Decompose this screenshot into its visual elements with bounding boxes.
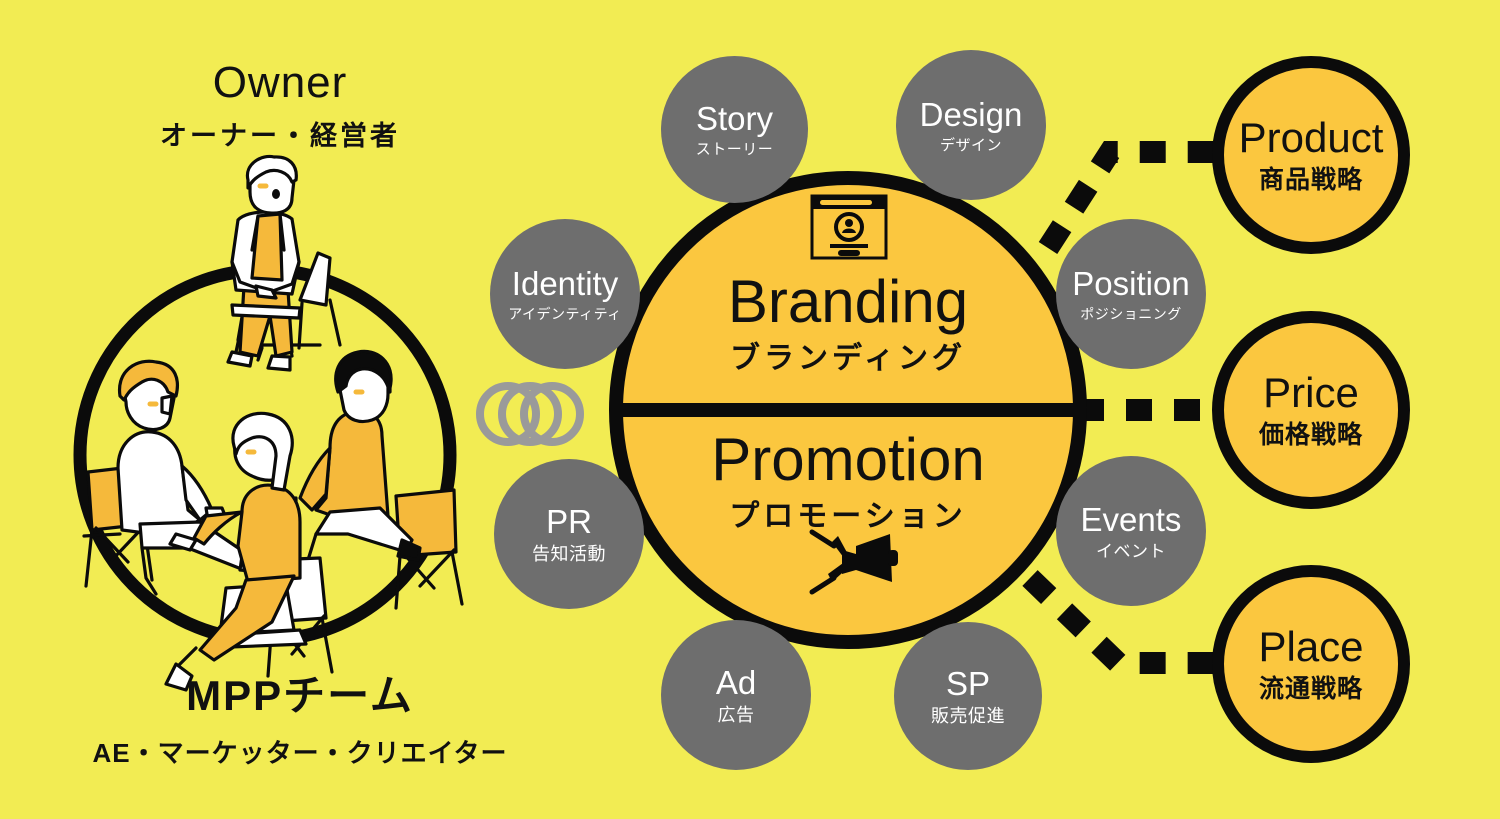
satellite-ad-en: Ad	[716, 666, 756, 699]
satellite-ad-jp: 広告	[718, 706, 755, 724]
satellite-identity-en: Identity	[512, 267, 618, 300]
satellite-story-jp: ストーリー	[696, 142, 774, 157]
hub-promotion-jp: プロモーション	[638, 502, 1058, 532]
diagram-canvas: Owner オーナー・経営者 MPPチーム AE・マーケッター・クリエイター B…	[0, 0, 1500, 819]
satellite-sp-jp: 販売促進	[931, 707, 1005, 725]
satellite-sp[interactable]: SP 販売促進	[894, 622, 1042, 770]
p4-product-en: Product	[1239, 117, 1384, 159]
satellite-position-en: Position	[1072, 267, 1189, 300]
satellite-pr[interactable]: PR 告知活動	[494, 459, 644, 609]
hub-promotion-en: Promotion	[638, 430, 1058, 490]
p4-place-en: Place	[1258, 626, 1363, 668]
satellite-events-en: Events	[1081, 503, 1182, 536]
satellite-position-jp: ポジショニング	[1080, 307, 1182, 321]
satellite-ad[interactable]: Ad 広告	[661, 620, 811, 770]
satellite-position[interactable]: Position ポジショニング	[1056, 219, 1206, 369]
satellite-events-jp: イベント	[1096, 543, 1166, 560]
mpp-title-en: MPPチーム	[0, 662, 600, 723]
mpp-title-jp: AE・マーケッター・クリエイター	[0, 733, 600, 770]
satellite-sp-en: SP	[946, 667, 990, 700]
mpp-team-heading: MPPチーム AE・マーケッター・クリエイター	[0, 662, 600, 770]
hub-branding-jp: ブランディング	[638, 344, 1058, 374]
satellite-identity[interactable]: Identity アイデンティティ	[490, 219, 640, 369]
owner-heading: Owner オーナー・経営者	[60, 58, 500, 153]
owner-title-en: Owner	[60, 58, 500, 108]
p4-price[interactable]: Price 価格戦略	[1212, 311, 1410, 509]
p4-place-jp: 流通戦略	[1259, 677, 1363, 702]
satellite-design-en: Design	[920, 98, 1023, 131]
browser-profile-icon	[812, 196, 886, 258]
satellite-pr-jp: 告知活動	[532, 545, 606, 563]
p4-price-en: Price	[1263, 372, 1359, 414]
hub-branding-label: Branding ブランディング	[638, 272, 1058, 374]
satellite-story[interactable]: Story ストーリー	[661, 56, 808, 203]
p4-place[interactable]: Place 流通戦略	[1212, 565, 1410, 763]
satellite-design-jp: デザイン	[940, 138, 1002, 153]
p4-product[interactable]: Product 商品戦略	[1212, 56, 1410, 254]
p4-price-jp: 価格戦略	[1259, 423, 1363, 448]
satellite-pr-en: PR	[546, 505, 592, 538]
satellite-events[interactable]: Events イベント	[1056, 456, 1206, 606]
satellite-story-en: Story	[696, 102, 773, 135]
satellite-identity-jp: アイデンティティ	[508, 307, 622, 321]
owner-title-jp: オーナー・経営者	[60, 114, 500, 153]
p4-product-jp: 商品戦略	[1259, 168, 1363, 193]
hub-promotion-label: Promotion プロモーション	[638, 430, 1058, 532]
satellite-design[interactable]: Design デザイン	[896, 50, 1046, 200]
hub-branding-en: Branding	[638, 272, 1058, 332]
